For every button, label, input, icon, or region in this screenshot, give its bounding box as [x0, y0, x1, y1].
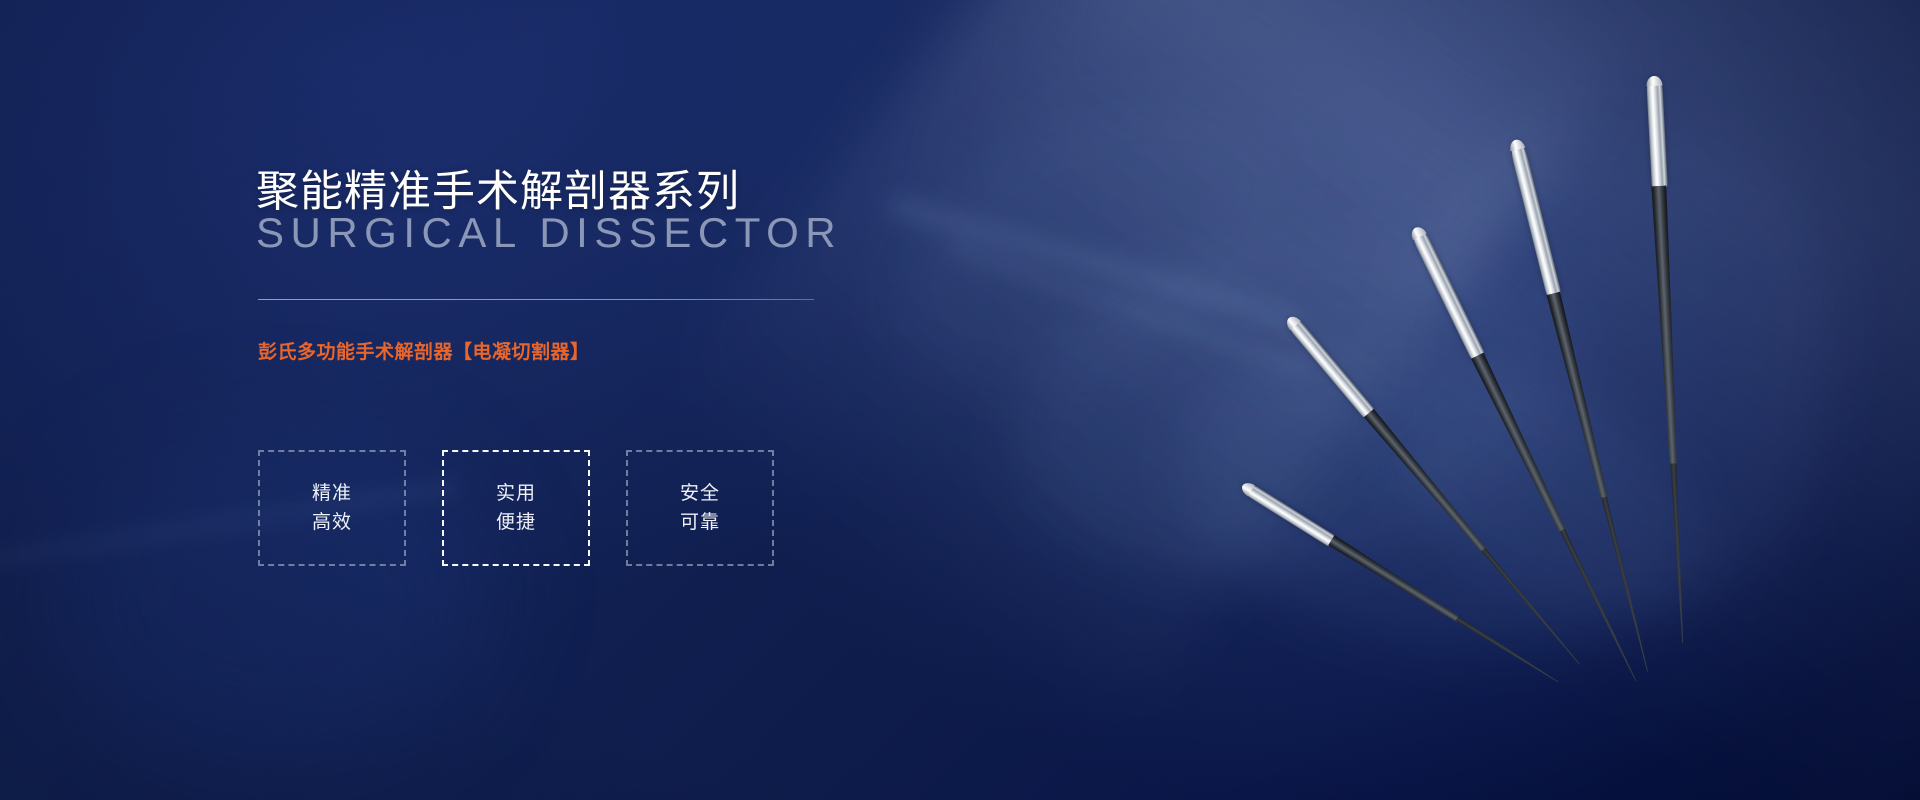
product-hero-banner: 聚能精准手术解剖器系列 SURGICAL DISSECTOR 彭氏多功能手术解剖… [0, 0, 1920, 800]
feature-badge-precision-line2: 高效 [312, 508, 352, 537]
title-divider [258, 299, 814, 300]
feature-badge-safety[interactable]: 安全 可靠 [626, 450, 774, 566]
page-subtitle-english: SURGICAL DISSECTOR [256, 210, 842, 256]
feature-badge-safety-line2: 可靠 [680, 508, 720, 537]
hero-text-column: 聚能精准手术解剖器系列 SURGICAL DISSECTOR 彭氏多功能手术解剖… [256, 0, 1016, 800]
feature-badge-practical-line2: 便捷 [496, 508, 536, 537]
product-name-label: 彭氏多功能手术解剖器【电凝切割器】 [258, 337, 590, 364]
feature-badges: 精准 高效 实用 便捷 安全 可靠 [258, 450, 774, 566]
feature-badge-practical[interactable]: 实用 便捷 [442, 450, 590, 566]
feature-badge-precision-line1: 精准 [312, 479, 352, 508]
feature-badge-safety-line1: 安全 [680, 479, 720, 508]
feature-badge-precision[interactable]: 精准 高效 [258, 450, 406, 566]
feature-badge-practical-line1: 实用 [496, 479, 536, 508]
